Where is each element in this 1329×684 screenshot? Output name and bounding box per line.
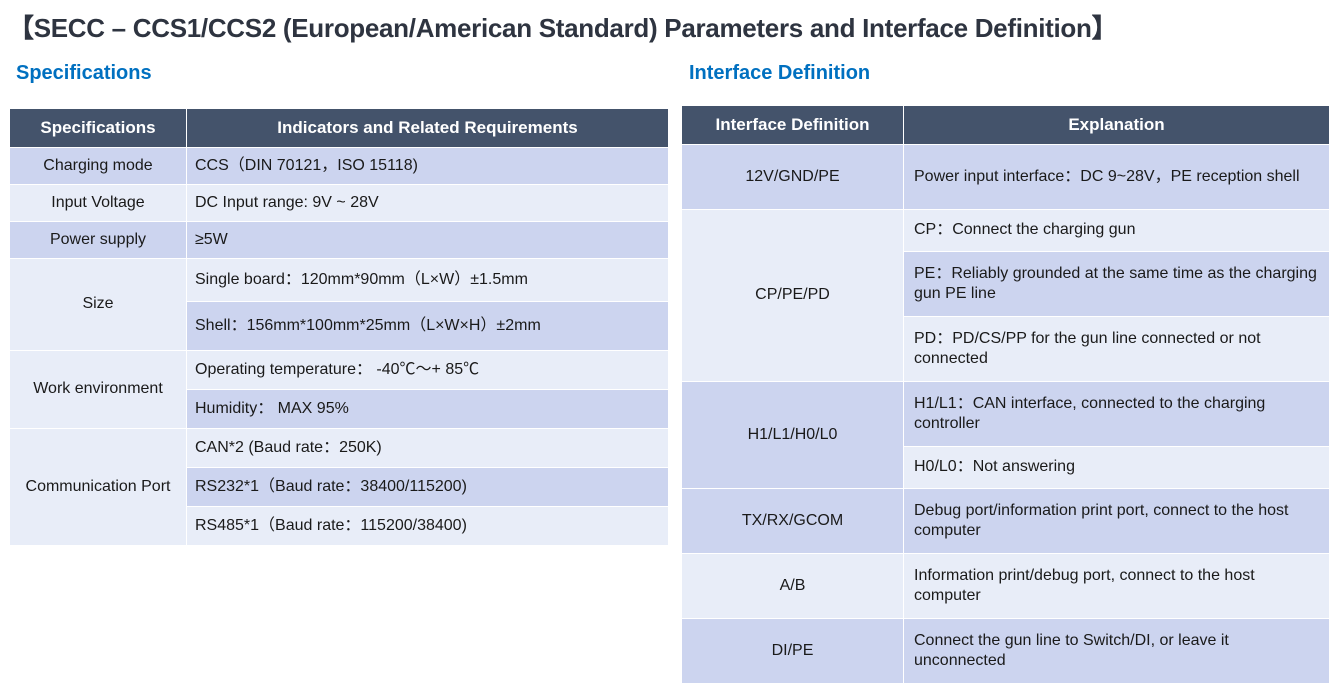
- table-header-row: Interface Definition Explanation: [682, 106, 1329, 145]
- specifications-table: Specifications Indicators and Related Re…: [9, 108, 669, 546]
- row-value-di-pe: Connect the gun line to Switch/DI, or le…: [904, 619, 1329, 684]
- row-value-size-board: Single board：120mm*90mm（L×W）±1.5mm: [187, 259, 669, 302]
- interface-definition-heading: Interface Definition: [689, 62, 870, 85]
- table-row: CP/PE/PD CP：Connect the charging gun: [682, 210, 1329, 252]
- table-row: Size Single board：120mm*90mm（L×W）±1.5mm: [10, 259, 669, 302]
- row-value-tx-rx-gcom: Debug port/information print port, conne…: [904, 489, 1329, 554]
- table-row: TX/RX/GCOM Debug port/information print …: [682, 489, 1329, 554]
- row-key-tx-rx-gcom: TX/RX/GCOM: [682, 489, 904, 554]
- row-key-size: Size: [10, 259, 187, 351]
- column-header-specifications: Specifications: [10, 109, 187, 148]
- table-row: Charging mode CCS（DIN 70121，ISO 15118): [10, 148, 669, 185]
- row-value-size-shell: Shell：156mm*100mm*25mm（L×W×H）±2mm: [187, 302, 669, 351]
- row-key-power-supply: Power supply: [10, 222, 187, 259]
- row-value-power-supply: ≥5W: [187, 222, 669, 259]
- table-row: H1/L1/H0/L0 H1/L1：CAN interface, connect…: [682, 382, 1329, 447]
- row-key-charging-mode: Charging mode: [10, 148, 187, 185]
- row-value-rs232: RS232*1（Baud rate：38400/115200): [187, 468, 669, 507]
- row-key-communication-port: Communication Port: [10, 429, 187, 546]
- row-value-humidity: Humidity： MAX 95%: [187, 390, 669, 429]
- table-row: Input Voltage DC Input range: 9V ~ 28V: [10, 185, 669, 222]
- row-key-h1-l1-h0-l0: H1/L1/H0/L0: [682, 382, 904, 489]
- row-value-h0-l0: H0/L0：Not answering: [904, 447, 1329, 489]
- row-value-input-voltage: DC Input range: 9V ~ 28V: [187, 185, 669, 222]
- column-header-interface-definition: Interface Definition: [682, 106, 904, 145]
- table-row: 12V/GND/PE Power input interface：DC 9~28…: [682, 145, 1329, 210]
- row-value-can: CAN*2 (Baud rate：250K): [187, 429, 669, 468]
- row-value-charging-mode: CCS（DIN 70121，ISO 15118): [187, 148, 669, 185]
- row-value-pe: PE：Reliably grounded at the same time as…: [904, 252, 1329, 317]
- table-row: A/B Information print/debug port, connec…: [682, 554, 1329, 619]
- row-value-h1-l1: H1/L1：CAN interface, connected to the ch…: [904, 382, 1329, 447]
- row-key-cp-pe-pd: CP/PE/PD: [682, 210, 904, 382]
- row-key-work-environment: Work environment: [10, 351, 187, 429]
- specifications-heading: Specifications: [16, 62, 152, 85]
- row-value-cp: CP：Connect the charging gun: [904, 210, 1329, 252]
- table-row: Communication Port CAN*2 (Baud rate：250K…: [10, 429, 669, 468]
- row-value-a-b: Information print/debug port, connect to…: [904, 554, 1329, 619]
- table-row: Work environment Operating temperature： …: [10, 351, 669, 390]
- row-key-di-pe: DI/PE: [682, 619, 904, 684]
- row-key-input-voltage: Input Voltage: [10, 185, 187, 222]
- row-key-a-b: A/B: [682, 554, 904, 619]
- row-value-pd: PD：PD/CS/PP for the gun line connected o…: [904, 317, 1329, 382]
- row-value-rs485: RS485*1（Baud rate：115200/38400): [187, 507, 669, 546]
- column-header-explanation: Explanation: [904, 106, 1329, 145]
- row-key-12v-gnd-pe: 12V/GND/PE: [682, 145, 904, 210]
- row-value-12v-gnd-pe: Power input interface：DC 9~28V，PE recept…: [904, 145, 1329, 210]
- row-value-operating-temperature: Operating temperature： -40℃～+ 85℃: [187, 351, 669, 390]
- table-row: Power supply ≥5W: [10, 222, 669, 259]
- table-header-row: Specifications Indicators and Related Re…: [10, 109, 669, 148]
- table-row: DI/PE Connect the gun line to Switch/DI,…: [682, 619, 1329, 684]
- column-header-indicators: Indicators and Related Requirements: [187, 109, 669, 148]
- page-title: 【SECC – CCS1/CCS2 (European/American Sta…: [8, 8, 1117, 45]
- interface-definition-table: Interface Definition Explanation 12V/GND…: [681, 105, 1329, 684]
